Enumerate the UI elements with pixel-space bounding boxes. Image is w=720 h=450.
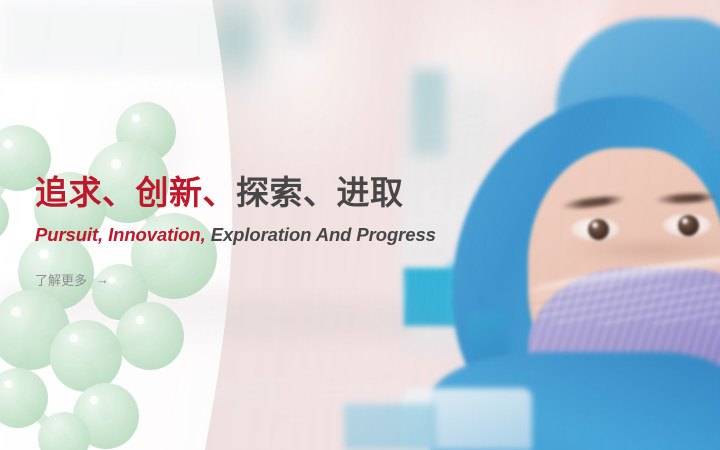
photo-blue-instrument	[468, 312, 508, 360]
arrow-right-icon: →	[96, 271, 109, 289]
page-subtitle: Pursuit, Innovation, Exploration And Pro…	[35, 222, 695, 248]
learn-more-link[interactable]: 了解更多→	[35, 272, 109, 290]
photo-folded-cloth-secondary	[344, 404, 436, 450]
page-title: 追求、创新、探索、进取	[35, 170, 695, 216]
subtitle-red-segment: Pursuit, Innovation,	[35, 224, 206, 245]
hero-banner: 追求、创新、探索、进取 Pursuit, Innovation, Explora…	[0, 0, 720, 450]
hero-content: 追求、创新、探索、进取 Pursuit, Innovation, Explora…	[35, 170, 695, 290]
headline-gray-segment: 探索、进取	[236, 174, 404, 211]
learn-more-label: 了解更多	[35, 272, 87, 290]
headline-red-segment: 追求、创新、	[35, 174, 236, 211]
subtitle-gray-segment: Exploration And Progress	[206, 224, 436, 245]
